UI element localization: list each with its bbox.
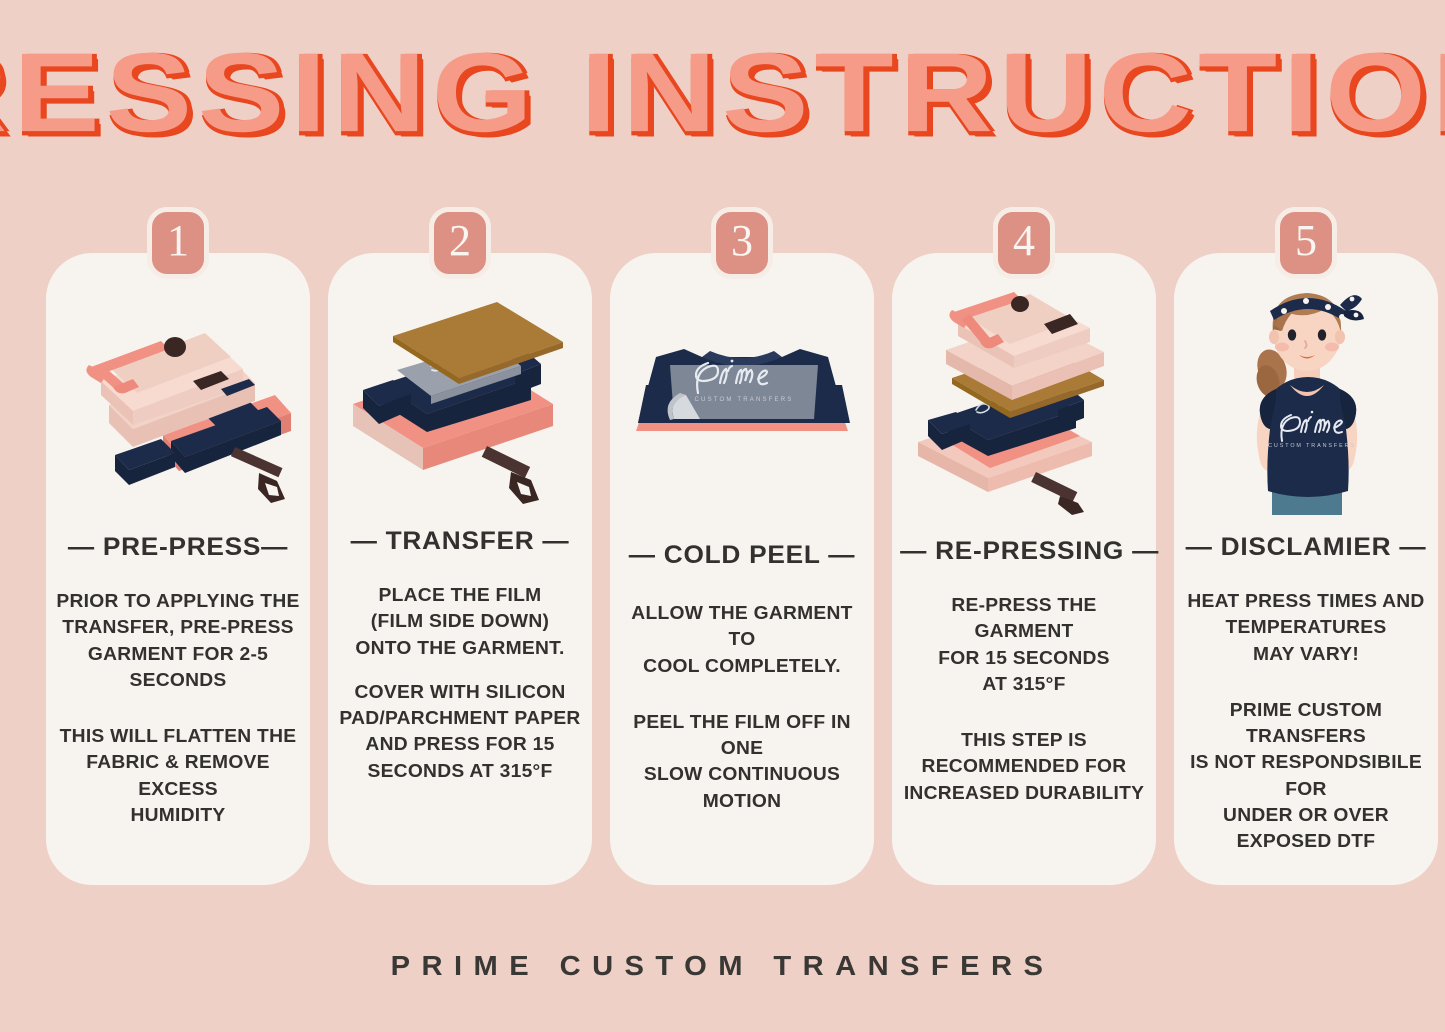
step-paragraph-2-2: COVER WITH SILICON PAD/PARCHMENT PAPER A… <box>337 679 582 784</box>
step-number-1: 1 <box>167 219 189 263</box>
step-number-badge-1: 1 <box>147 207 209 279</box>
step-text-2: — TRANSFER — PLACE THE FILM (FILM SIDE D… <box>334 527 586 784</box>
step-number-4: 4 <box>1013 219 1035 263</box>
step-number-badge-4: 4 <box>993 207 1055 279</box>
step-text-3: — COLD PEEL — ALLOW THE GARMENT TO COOL … <box>616 541 868 814</box>
step-card-1[interactable]: 1 <box>46 253 310 885</box>
woman-wearing-shirt-icon: CUSTOM TRANSFERS <box>1174 277 1438 527</box>
steps-row: 1 <box>46 253 1399 885</box>
step-paragraph-5-1: HEAT PRESS TIMES AND TEMPERATURES MAY VA… <box>1183 588 1428 667</box>
film-on-garment-icon <box>328 277 592 527</box>
step-paragraph-2-1: PLACE THE FILM (FILM SIDE DOWN) ONTO THE… <box>337 582 582 661</box>
step-text-1: — PRE-PRESS— PRIOR TO APPLYING THE TRANS… <box>52 533 304 828</box>
page-title: PRESSING INSTRUCTIONS <box>0 36 1445 148</box>
step-heading-4: — RE-PRESSING — <box>900 537 1148 566</box>
header: PRESSING INSTRUCTIONS <box>0 30 1445 155</box>
heat-press-closed-icon <box>46 277 310 527</box>
step-paragraph-3-1: ALLOW THE GARMENT TO COOL COMPLETELY. <box>619 600 864 679</box>
step-card-5[interactable]: 5 <box>1174 253 1438 885</box>
step-text-4: — RE-PRESSING — RE-PRESS THE GARMENT FOR… <box>898 537 1150 806</box>
step-paragraph-4-2: THIS STEP IS RECOMMENDED FOR INCREASED D… <box>901 727 1146 806</box>
step-card-4[interactable]: 4 <box>892 253 1156 885</box>
step-number-3: 3 <box>731 219 753 263</box>
step-number-badge-3: 3 <box>711 207 773 279</box>
peel-film-shirt-icon: CUSTOM TRANSFERS <box>610 277 874 527</box>
step-number-badge-5: 5 <box>1275 207 1337 279</box>
step-paragraph-1-2: THIS WILL FLATTEN THE FABRIC & REMOVE EX… <box>55 723 300 828</box>
step-card-2[interactable]: 2 <box>328 253 592 885</box>
heat-press-exploded-icon <box>892 277 1156 527</box>
step-number-badge-2: 2 <box>429 207 491 279</box>
step-heading-2: — TRANSFER — <box>336 527 584 556</box>
step-number-2: 2 <box>449 219 471 263</box>
step-paragraph-3-2: PEEL THE FILM OFF IN ONE SLOW CONTINUOUS… <box>619 709 864 814</box>
step-heading-3: — COLD PEEL — <box>618 541 866 570</box>
svg-text:CUSTOM TRANSFERS: CUSTOM TRANSFERS <box>695 397 794 403</box>
step-paragraph-4-1: RE-PRESS THE GARMENT FOR 15 SECONDS AT 3… <box>901 592 1146 697</box>
step-text-5: — DISCLAMIER — HEAT PRESS TIMES AND TEMP… <box>1180 533 1432 854</box>
step-heading-1: — PRE-PRESS— <box>54 533 302 562</box>
footer-brand: PRIME CUSTOM TRANSFERS <box>0 950 1445 982</box>
step-heading-5: — DISCLAMIER — <box>1182 533 1430 562</box>
svg-text:CUSTOM TRANSFERS: CUSTOM TRANSFERS <box>1268 443 1356 449</box>
step-paragraph-5-2: PRIME CUSTOM TRANSFERS IS NOT RESPONDSIB… <box>1183 697 1428 855</box>
step-paragraph-1-1: PRIOR TO APPLYING THE TRANSFER, PRE-PRES… <box>55 588 300 693</box>
step-card-3[interactable]: 3 <box>610 253 874 885</box>
step-number-5: 5 <box>1295 219 1317 263</box>
